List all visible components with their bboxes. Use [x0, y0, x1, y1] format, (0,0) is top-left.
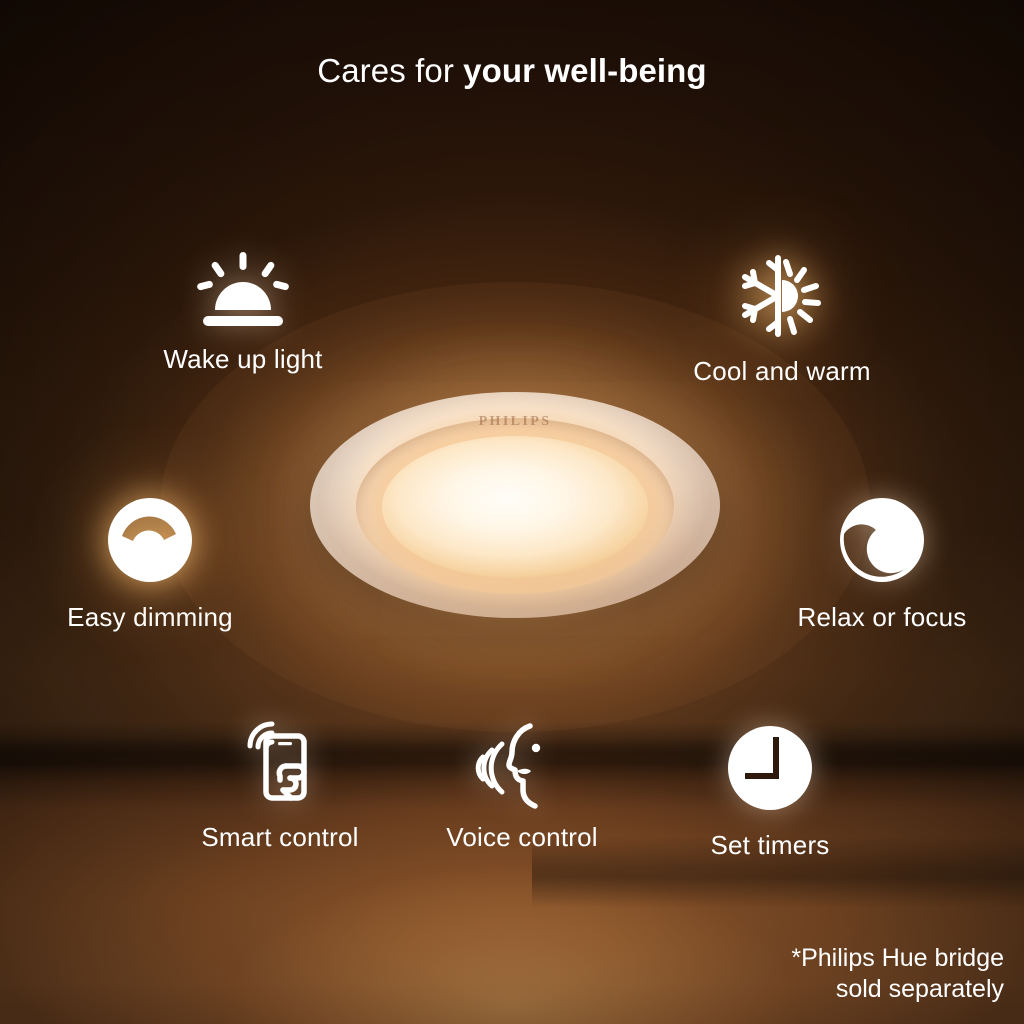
- footnote: *Philips Hue bridge sold separately: [791, 943, 1004, 1004]
- feature-label: Easy dimming: [48, 602, 252, 633]
- feature-label: Wake up light: [143, 344, 343, 375]
- feature-label: Voice control: [420, 822, 624, 853]
- feature-smart-control[interactable]: Smart control: [178, 718, 382, 853]
- downlight-diffuser: [382, 436, 648, 578]
- feature-relax-or-focus[interactable]: Relax or focus: [780, 490, 984, 633]
- feature-easy-dimming[interactable]: Easy dimming: [48, 490, 252, 633]
- product-feature-graphic: Cares for your well-being PHILIPS Wake u…: [0, 0, 1024, 1024]
- footnote-line-2: sold separately: [791, 974, 1004, 1005]
- snowflake-sun-icon: [730, 248, 834, 344]
- yin-yang-icon: [832, 490, 932, 590]
- feature-set-timers[interactable]: Set timers: [668, 718, 872, 861]
- sunrise-icon: [193, 252, 293, 332]
- feature-voice-control[interactable]: Voice control: [420, 718, 624, 853]
- footnote-line-1: *Philips Hue bridge: [791, 943, 1004, 974]
- dimmer-dial-icon: [100, 490, 200, 590]
- philips-wordmark: PHILIPS: [310, 414, 720, 430]
- feature-cool-and-warm[interactable]: Cool and warm: [680, 248, 884, 387]
- feature-label: Smart control: [178, 822, 382, 853]
- page-title-bold: your well-being: [463, 52, 707, 89]
- feature-label: Set timers: [668, 830, 872, 861]
- feature-wake-up-light[interactable]: Wake up light: [143, 252, 343, 375]
- phone-hand-wifi-icon: [228, 718, 332, 810]
- feature-label: Cool and warm: [680, 356, 884, 387]
- product-downlight: PHILIPS: [310, 392, 720, 618]
- speaking-face-icon: [470, 718, 574, 810]
- page-title: Cares for your well-being: [0, 52, 1024, 90]
- feature-label: Relax or focus: [780, 602, 984, 633]
- page-title-light: Cares for: [317, 52, 463, 89]
- clock-icon: [720, 718, 820, 818]
